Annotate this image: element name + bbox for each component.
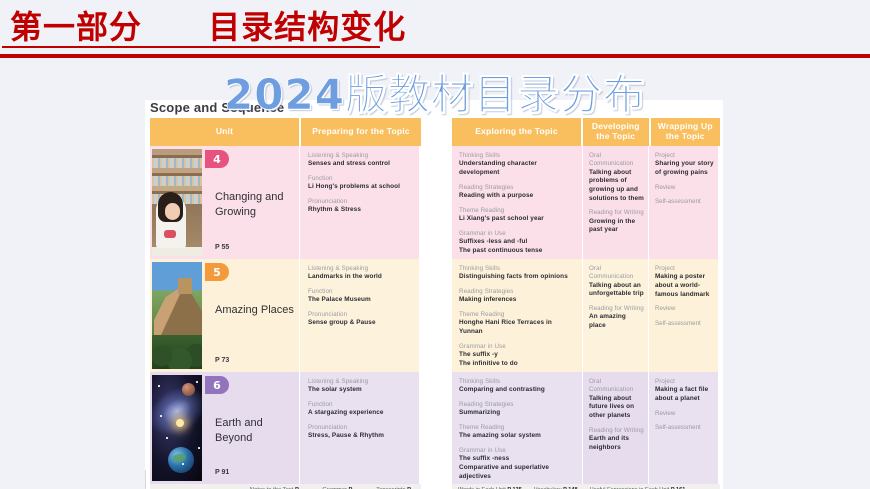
project-block: Project Making a poster about a world-fa… xyxy=(655,265,714,299)
self-assessment-block: Self-assessment xyxy=(655,198,714,206)
value-reading-strategies: Making inferences xyxy=(459,296,577,305)
value-pronunciation: Rhythm & Stress xyxy=(308,206,413,215)
unit-info-cell: 4 Changing and Growing P 55 xyxy=(203,146,299,259)
label-grammar-in-use: Grammar in Use xyxy=(459,447,577,455)
label-theme-reading: Theme Reading xyxy=(459,207,577,215)
label-thinking-skills: Thinking Skills xyxy=(459,378,577,386)
unit-name: Earth and Beyond xyxy=(215,416,299,446)
label-pronunciation: Pronunciation xyxy=(308,311,413,319)
wrapping-cell: Project Making a poster about a world-fa… xyxy=(648,259,718,372)
wrapping-cell: Project Making a fact file about a plane… xyxy=(648,372,718,484)
wrapping-cell: Project Sharing your story of growing pa… xyxy=(648,146,718,259)
spread-right-page: Exploring the Topic Developing the Topic… xyxy=(452,118,720,489)
developing-cell: Oral Communication Talking about an unfo… xyxy=(582,259,648,372)
unit-thumbnail-cell xyxy=(150,259,203,372)
unit-info-cell: 6 Earth and Beyond P 91 xyxy=(203,372,299,484)
label-project: Project xyxy=(655,152,714,160)
page-edge xyxy=(145,470,149,489)
section-label: 第一部分 xyxy=(10,8,142,46)
unit-info-cell: 5 Amazing Places P 73 xyxy=(203,259,299,372)
value-project: Making a fact file about a planet xyxy=(655,386,714,403)
label-pronunciation: Pronunciation xyxy=(308,424,413,432)
table-row[interactable]: 6 Earth and Beyond P 91 Listening & Spea… xyxy=(150,372,421,484)
value-reading-for-writing: Growing in the past year xyxy=(589,218,644,235)
unit-page-number: P 55 xyxy=(215,244,229,251)
column-header-developing-line2: the Topic xyxy=(596,131,635,141)
grammar-in-use-block: Grammar in Use The suffix -y The infinit… xyxy=(459,343,577,369)
value-self-assessment: Self-assessment xyxy=(655,320,714,328)
preparing-cell: Listening & Speaking Landmarks in the wo… xyxy=(299,259,419,372)
value-reading-for-writing: Earth and its neighbors xyxy=(589,435,644,452)
label-oral-communication: Oral Communication xyxy=(589,378,644,395)
label-oral-communication: Oral Communication xyxy=(589,265,644,282)
label-grammar-in-use: Grammar in Use xyxy=(459,343,577,351)
pronunciation-block: Pronunciation Rhythm & Stress xyxy=(308,198,413,215)
book-spread: Scope and Sequence Unit Preparing for th… xyxy=(145,100,723,489)
label-grammar-in-use: Grammar in Use xyxy=(459,230,577,238)
library-study-photo xyxy=(152,149,202,256)
value-review: Review xyxy=(655,305,714,313)
value-thinking-skills: Comparing and contrasting xyxy=(459,386,577,395)
theme-reading-block: Theme Reading Honghe Hani Rice Terraces … xyxy=(459,311,577,337)
spread-left-page: Unit Preparing for the Topic 4 Chang xyxy=(150,118,421,489)
thinking-skills-block: Thinking Skills Distinguishing facts fro… xyxy=(459,265,577,282)
label-oral-communication: Oral Communication xyxy=(589,152,644,169)
label-theme-reading: Theme Reading xyxy=(459,424,577,432)
table-row[interactable]: Thinking Skills Distinguishing facts fro… xyxy=(452,259,720,372)
unit-thumbnail-cell xyxy=(150,146,203,259)
listening-speaking-block: Listening & Speaking Senses and stress c… xyxy=(308,152,413,169)
table-row[interactable]: Thinking Skills Comparing and contrastin… xyxy=(452,372,720,484)
value-self-assessment: Self-assessment xyxy=(655,424,714,432)
space-planets-photo xyxy=(152,375,202,481)
value-project: Making a poster about a world-famous lan… xyxy=(655,273,714,299)
unit-page-number: P 91 xyxy=(215,469,229,476)
value-theme-reading: Honghe Hani Rice Terraces in Yunnan xyxy=(459,319,577,336)
table-row[interactable]: 5 Amazing Places P 73 Listening & Speaki… xyxy=(150,259,421,372)
reading-for-writing-block: Reading for Writing An amazing place xyxy=(589,305,644,331)
oral-communication-block: Oral Communication Talking about an unfo… xyxy=(589,265,644,299)
value-theme-reading: Li Xiang's past school year xyxy=(459,215,577,224)
label-thinking-skills: Thinking Skills xyxy=(459,265,577,273)
value-listening-speaking: The solar system xyxy=(308,386,413,395)
page-title: 第一部分 目录结构变化 xyxy=(10,2,406,48)
thinking-skills-block: Thinking Skills Comparing and contrastin… xyxy=(459,378,577,395)
label-function: Function xyxy=(308,288,413,296)
table-row[interactable]: 4 Changing and Growing P 55 Listening & … xyxy=(150,146,421,259)
value-listening-speaking: Landmarks in the world xyxy=(308,273,413,282)
appendices-row-right: Words in Each Unit P 135 Vocabulary P 14… xyxy=(452,484,720,489)
header-rule xyxy=(0,54,870,58)
label-reading-for-writing: Reading for Writing xyxy=(589,305,644,313)
label-pronunciation: Pronunciation xyxy=(308,198,413,206)
self-assessment-block: Self-assessment xyxy=(655,320,714,328)
value-grammar-1: Suffixes -less and -ful xyxy=(459,238,577,247)
column-header-developing: Developing the Topic xyxy=(583,118,649,146)
label-reading-strategies: Reading Strategies xyxy=(459,288,577,296)
preparing-cell: Listening & Speaking Senses and stress c… xyxy=(299,146,419,259)
column-header-wrapping-line1: Wrapping Up xyxy=(658,121,713,131)
column-header-wrapping: Wrapping Up the Topic xyxy=(651,118,720,146)
label-thinking-skills: Thinking Skills xyxy=(459,152,577,160)
value-grammar-1: The suffix -y xyxy=(459,351,577,360)
slide-header: 第一部分 目录结构变化 xyxy=(0,0,870,56)
value-grammar-2: The infinitive to do xyxy=(459,360,577,369)
section-title: 目录结构变化 xyxy=(208,8,406,46)
label-reading-for-writing: Reading for Writing xyxy=(589,209,644,217)
grammar-in-use-block: Grammar in Use Suffixes -less and -ful T… xyxy=(459,230,577,256)
column-header-developing-line1: Developing xyxy=(592,121,640,131)
column-header-wrapping-line2: the Topic xyxy=(666,131,705,141)
function-block: Function A stargazing experience xyxy=(308,401,413,418)
value-project: Sharing your story of growing pains xyxy=(655,160,714,177)
value-function: Li Hong's problems at school xyxy=(308,183,413,192)
function-block: Function Li Hong's problems at school xyxy=(308,175,413,192)
project-block: Project Making a fact file about a plane… xyxy=(655,378,714,404)
value-review: Review xyxy=(655,410,714,418)
developing-cell: Oral Communication Talking about future … xyxy=(582,372,648,484)
table-row[interactable]: Thinking Skills Understanding character … xyxy=(452,146,720,259)
value-grammar-2: Comparative and superlative adjectives xyxy=(459,464,577,481)
label-listening-speaking: Listening & Speaking xyxy=(308,378,413,386)
pronunciation-block: Pronunciation Sense group & Pause xyxy=(308,311,413,328)
grammar-in-use-block: Grammar in Use The suffix -ness Comparat… xyxy=(459,447,577,481)
label-project: Project xyxy=(655,378,714,386)
theme-reading-block: Theme Reading The amazing solar system xyxy=(459,424,577,441)
exploring-cell: Thinking Skills Understanding character … xyxy=(452,146,582,259)
label-reading-strategies: Reading Strategies xyxy=(459,184,577,192)
left-column-headers: Unit Preparing for the Topic xyxy=(150,118,421,146)
value-listening-speaking: Senses and stress control xyxy=(308,160,413,169)
unit-number-badge: 5 xyxy=(205,263,229,281)
value-reading-strategies: Reading with a purpose xyxy=(459,192,577,201)
listening-speaking-block: Listening & Speaking Landmarks in the wo… xyxy=(308,265,413,282)
title-underline xyxy=(2,46,380,48)
value-oral-communication: Talking about future lives on other plan… xyxy=(589,395,644,421)
label-project: Project xyxy=(655,265,714,273)
label-theme-reading: Theme Reading xyxy=(459,311,577,319)
review-block: Review xyxy=(655,184,714,192)
thinking-skills-block: Thinking Skills Understanding character … xyxy=(459,152,577,178)
listening-speaking-block: Listening & Speaking The solar system xyxy=(308,378,413,395)
self-assessment-block: Self-assessment xyxy=(655,424,714,432)
value-theme-reading: The amazing solar system xyxy=(459,432,577,441)
reading-strategies-block: Reading Strategies Making inferences xyxy=(459,288,577,305)
slide-root: 第一部分 目录结构变化 2024版教材目录分布 Scope and Sequen… xyxy=(0,0,870,489)
value-oral-communication: Talking about problems of growing up and… xyxy=(589,169,644,204)
value-pronunciation: Sense group & Pause xyxy=(308,319,413,328)
oral-communication-block: Oral Communication Talking about future … xyxy=(589,378,644,421)
reading-for-writing-block: Reading for Writing Earth and its neighb… xyxy=(589,427,644,453)
theme-reading-block: Theme Reading Li Xiang's past school yea… xyxy=(459,207,577,224)
value-pronunciation: Stress, Pause & Rhythm xyxy=(308,432,413,441)
value-reading-strategies: Summarizing xyxy=(459,409,577,418)
unit-page-number: P 73 xyxy=(215,357,229,364)
value-grammar-1: The suffix -ness xyxy=(459,455,577,464)
appendices-row-left: Appendices Notes to the Text P 109 Gramm… xyxy=(150,484,421,489)
column-header-exploring: Exploring the Topic xyxy=(452,118,581,146)
label-reading-strategies: Reading Strategies xyxy=(459,401,577,409)
unit-name: Changing and Growing xyxy=(215,190,299,220)
value-self-assessment: Self-assessment xyxy=(655,198,714,206)
value-function: A stargazing experience xyxy=(308,409,413,418)
pronunciation-block: Pronunciation Stress, Pause & Rhythm xyxy=(308,424,413,441)
unit-number-badge: 6 xyxy=(205,376,229,394)
unit-thumbnail-cell xyxy=(150,372,203,484)
oral-communication-block: Oral Communication Talking about problem… xyxy=(589,152,644,203)
preparing-cell: Listening & Speaking The solar system Fu… xyxy=(299,372,419,484)
column-header-preparing: Preparing for the Topic xyxy=(301,118,421,146)
developing-cell: Oral Communication Talking about problem… xyxy=(582,146,648,259)
review-block: Review xyxy=(655,410,714,418)
reading-for-writing-block: Reading for Writing Growing in the past … xyxy=(589,209,644,235)
value-function: The Palace Museum xyxy=(308,296,413,305)
label-listening-speaking: Listening & Speaking xyxy=(308,152,413,160)
value-oral-communication: Talking about an unforgettable trip xyxy=(589,282,644,299)
value-review: Review xyxy=(655,184,714,192)
label-reading-for-writing: Reading for Writing xyxy=(589,427,644,435)
column-header-unit: Unit xyxy=(150,118,299,146)
exploring-cell: Thinking Skills Comparing and contrastin… xyxy=(452,372,582,484)
exploring-cell: Thinking Skills Distinguishing facts fro… xyxy=(452,259,582,372)
review-block: Review xyxy=(655,305,714,313)
great-wall-photo xyxy=(152,262,202,369)
right-column-headers: Exploring the Topic Developing the Topic… xyxy=(452,118,720,146)
value-thinking-skills: Distinguishing facts from opinions xyxy=(459,273,577,282)
label-listening-speaking: Listening & Speaking xyxy=(308,265,413,273)
label-function: Function xyxy=(308,401,413,409)
function-block: Function The Palace Museum xyxy=(308,288,413,305)
project-block: Project Sharing your story of growing pa… xyxy=(655,152,714,178)
reading-strategies-block: Reading Strategies Reading with a purpos… xyxy=(459,184,577,201)
value-reading-for-writing: An amazing place xyxy=(589,313,644,330)
value-grammar-2: The past continuous tense xyxy=(459,247,577,256)
label-function: Function xyxy=(308,175,413,183)
unit-name: Amazing Places xyxy=(215,303,299,318)
value-thinking-skills: Understanding character development xyxy=(459,160,577,177)
scope-and-sequence-title: Scope and Sequence xyxy=(150,100,284,115)
unit-number-badge: 4 xyxy=(205,150,229,168)
reading-strategies-block: Reading Strategies Summarizing xyxy=(459,401,577,418)
